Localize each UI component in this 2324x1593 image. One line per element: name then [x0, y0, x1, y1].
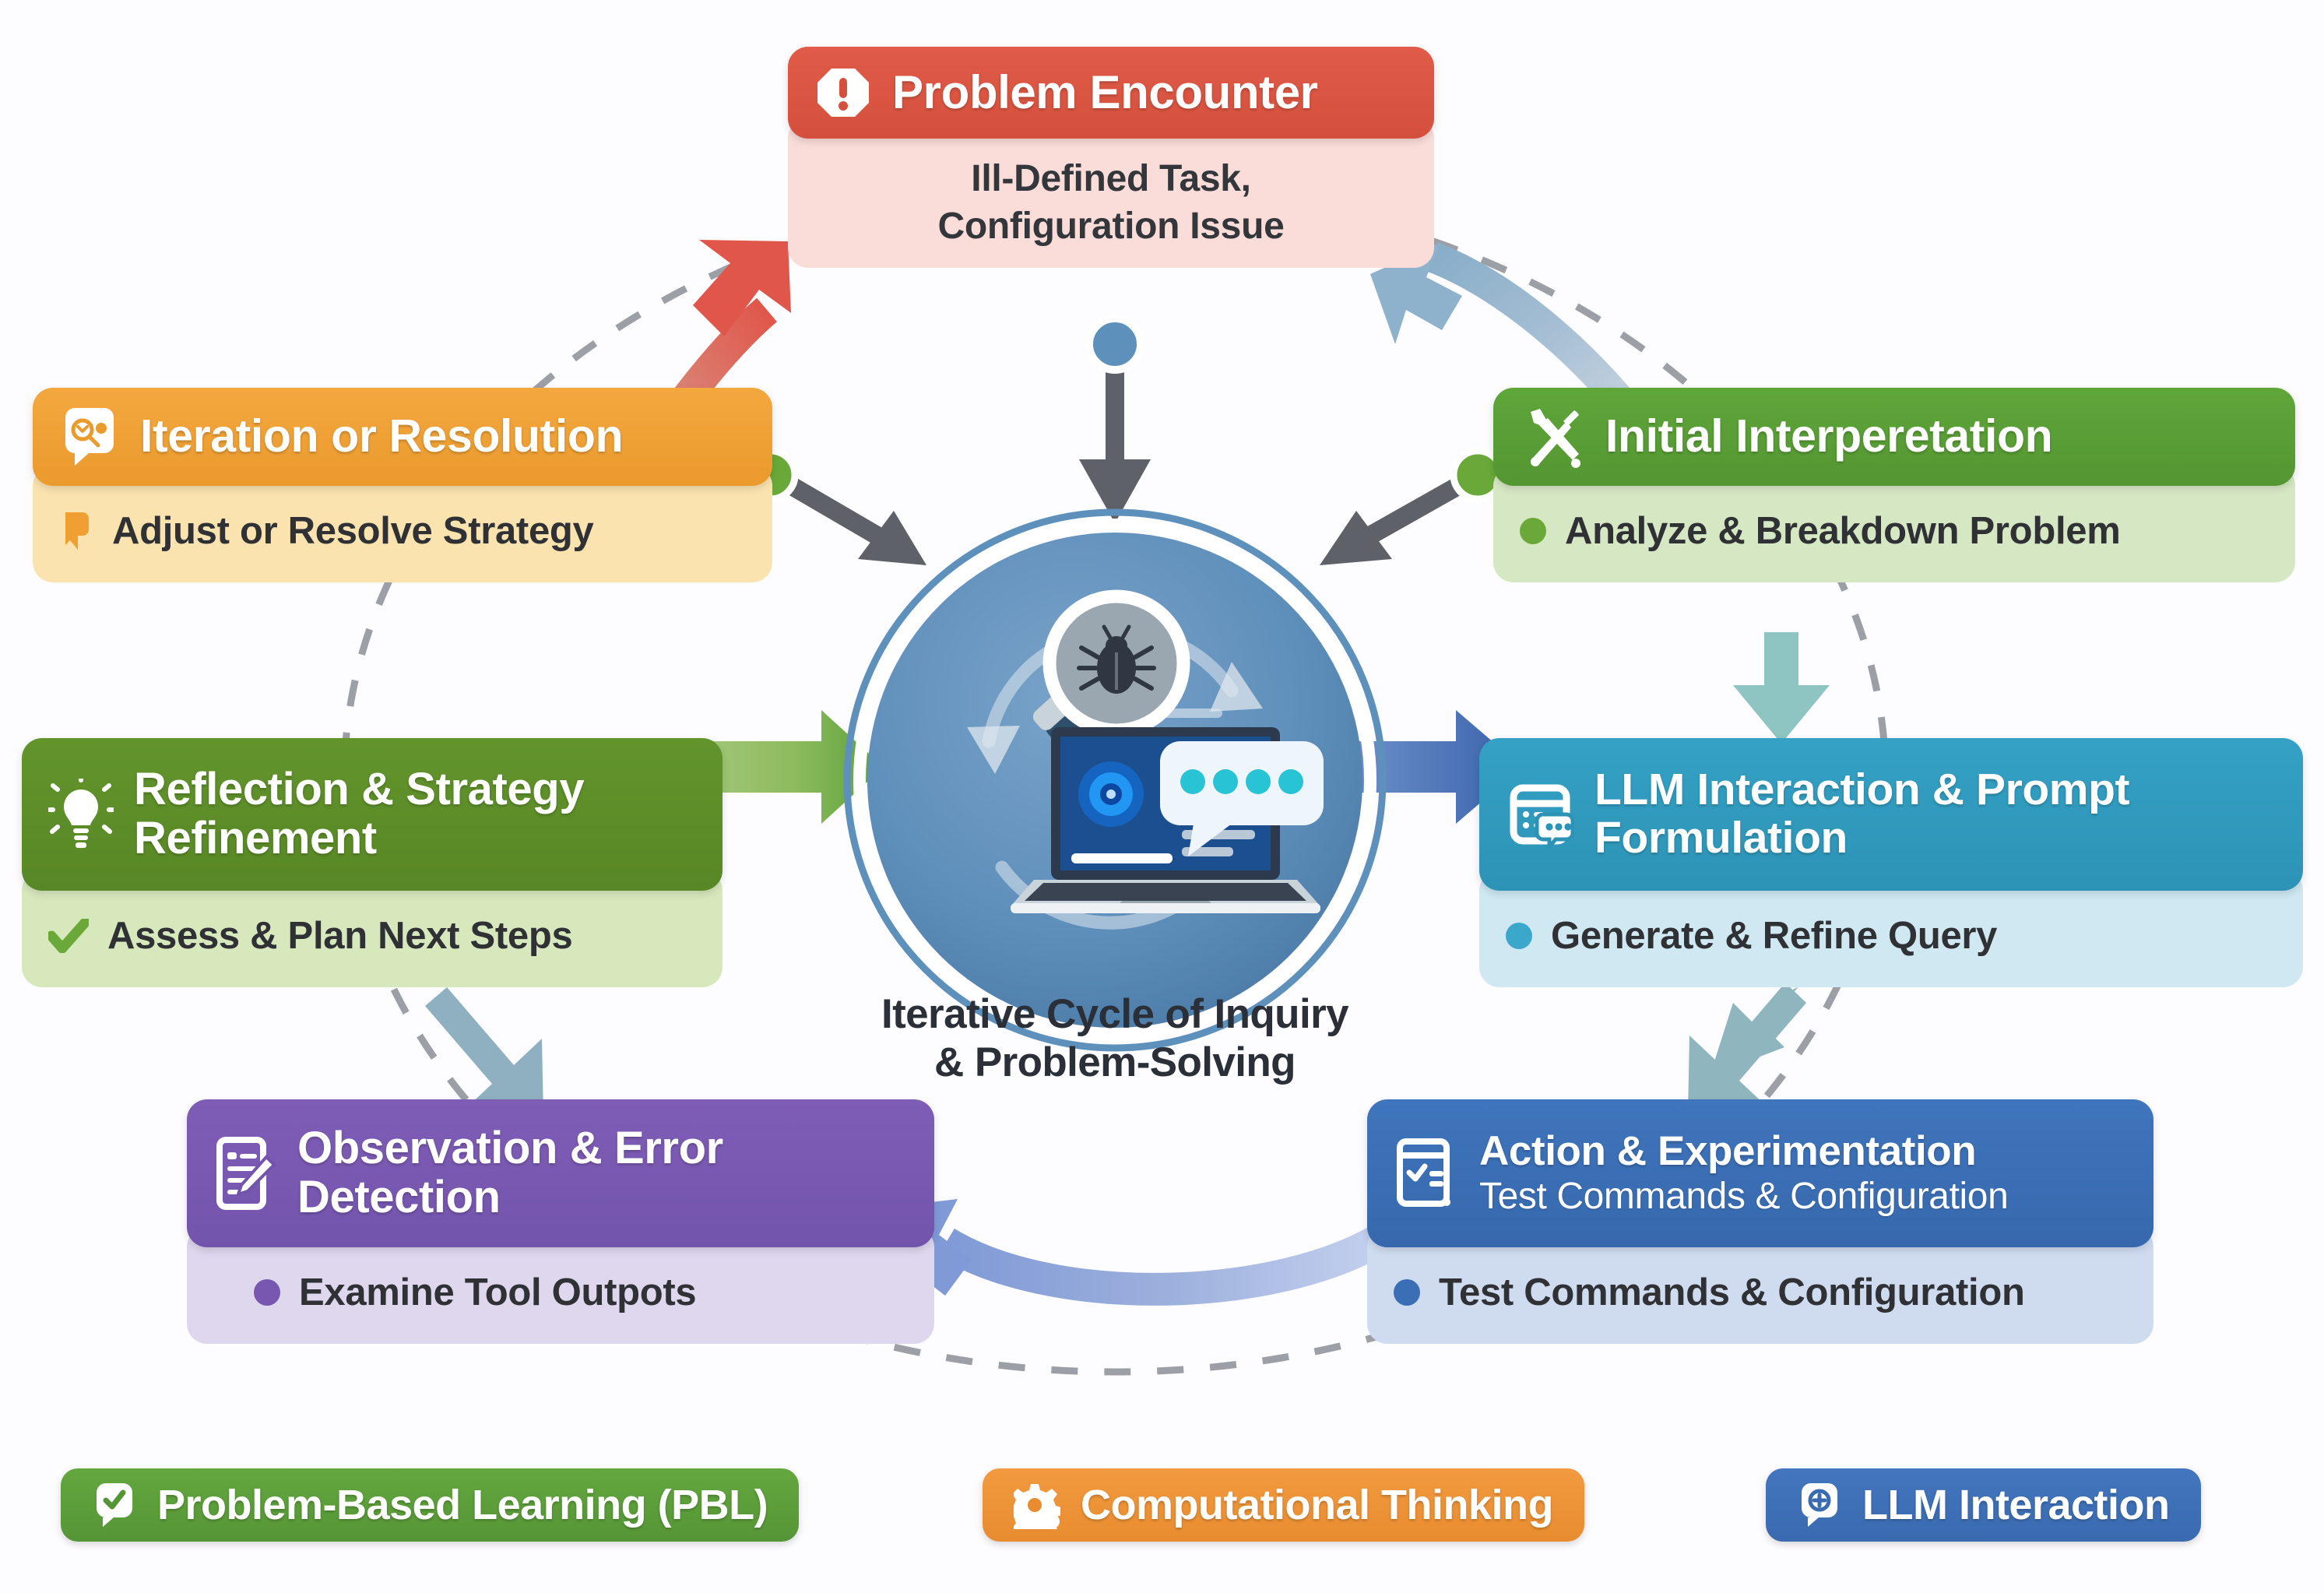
- reflection-body-text: Assess & Plan Next Steps: [107, 914, 572, 958]
- node-initial-interpretation[interactable]: Initial Interperetation Analyze & Breakd…: [1493, 388, 2295, 582]
- node-problem-encounter[interactable]: Problem Encounter Ill-Defined Task, Conf…: [788, 47, 1434, 268]
- action-subtitle: Test Commands & Configuration: [1479, 1176, 2008, 1218]
- problem-encounter-title: Problem Encounter: [892, 68, 1318, 118]
- check-icon: [48, 919, 89, 953]
- llm-title: LLM Interaction & Prompt Formulation: [1594, 766, 2129, 862]
- observation-header[interactable]: Observation & Error Detection: [187, 1099, 934, 1247]
- node-reflection-strategy-refinement[interactable]: Reflection & Strategy Refinement Assess …: [22, 738, 723, 987]
- llm-title-line2: Formulation: [1594, 814, 2129, 863]
- arrow-llm-to-action: [1688, 983, 1806, 1113]
- checklist-terminal-icon: [1394, 1137, 1459, 1210]
- top-cycle-dot: [1089, 318, 1141, 370]
- bookmark-icon: [59, 509, 93, 553]
- action-header[interactable]: Action & Experimentation Test Commands &…: [1367, 1099, 2153, 1247]
- legend-item-pbl[interactable]: Problem-Based Learning (PBL): [61, 1468, 799, 1542]
- observation-body-text: Examine Tool Outpots: [299, 1271, 696, 1314]
- reflection-header[interactable]: Reflection & Strategy Refinement: [22, 738, 723, 891]
- problem-encounter-header[interactable]: Problem Encounter: [788, 47, 1434, 139]
- window-chat-bubble-icon: [1506, 780, 1574, 849]
- observation-title-line1: Observation & Error: [297, 1124, 723, 1173]
- action-title-line1: Action & Experimentation: [1479, 1129, 2008, 1173]
- initial-interpretation-header[interactable]: Initial Interperetation: [1493, 388, 2295, 486]
- node-observation-error-detection[interactable]: Observation & Error Detection Examine To…: [187, 1099, 934, 1344]
- node-iteration-or-resolution[interactable]: Iteration or Resolution Adjust or Resolv…: [33, 388, 772, 582]
- diagram-canvas: Iterative Cycle of Inquiry & Problem-Sol…: [0, 0, 2324, 1593]
- arrow-top-into-circle: [1079, 318, 1151, 523]
- observation-title: Observation & Error Detection: [297, 1124, 723, 1222]
- bullet-dot: [1520, 518, 1546, 544]
- bullet-dot: [1506, 923, 1532, 949]
- center-caption-line1: Iterative Cycle of Inquiry: [819, 990, 1411, 1039]
- legend-item-computational-thinking[interactable]: Computational Thinking: [983, 1468, 1584, 1542]
- check-bubble-icon: [92, 1482, 137, 1528]
- legend-label-pbl: Problem-Based Learning (PBL): [157, 1481, 768, 1529]
- reflection-title-line1: Reflection & Strategy: [134, 765, 584, 814]
- iteration-title: Iteration or Resolution: [140, 412, 623, 462]
- problem-encounter-body-line2: Configuration Issue: [938, 205, 1285, 248]
- node-action-experimentation[interactable]: Action & Experimentation Test Commands &…: [1367, 1099, 2153, 1344]
- bullet-dot: [254, 1279, 280, 1306]
- exclamation-octagon-icon: [814, 64, 872, 121]
- llm-body-text: Generate & Refine Query: [1551, 914, 1997, 958]
- document-pencil-icon: [213, 1137, 277, 1210]
- tools-wrench-screwdriver-icon: [1520, 404, 1585, 469]
- arrow-action-to-observation: [878, 1199, 1394, 1306]
- legend-label-llm-interaction: LLM Interaction: [1862, 1481, 2170, 1529]
- problem-encounter-body: Ill-Defined Task, Configuration Issue: [788, 118, 1434, 268]
- iteration-body-text: Adjust or Resolve Strategy: [112, 509, 593, 553]
- arrow-reflection-to-observation: [425, 987, 543, 1117]
- node-llm-interaction-prompt[interactable]: LLM Interaction & Prompt Formulation Gen…: [1479, 738, 2303, 987]
- action-body-text: Test Commands & Configuration: [1439, 1271, 2025, 1314]
- llm-header[interactable]: LLM Interaction & Prompt Formulation: [1479, 738, 2303, 891]
- center-illustration: [842, 508, 1387, 1053]
- legend-item-llm-interaction[interactable]: LLM Interaction: [1766, 1468, 2201, 1542]
- legend-label-computational-thinking: Computational Thinking: [1081, 1481, 1553, 1529]
- problem-encounter-body-line1: Ill-Defined Task,: [971, 157, 1250, 200]
- iteration-header[interactable]: Iteration or Resolution: [33, 388, 772, 486]
- center-caption-line2: & Problem-Solving: [819, 1039, 1411, 1087]
- gear-icon: [1014, 1481, 1060, 1529]
- bullet-dot: [1394, 1279, 1420, 1306]
- laptop-magnifier-bug-chat-illustration: [842, 508, 1387, 1053]
- initial-interpretation-title: Initial Interperetation: [1605, 412, 2052, 462]
- arrow-interpretation-to-llm: [1733, 632, 1830, 744]
- reflection-title-line2: Refinement: [134, 814, 584, 863]
- action-title: Action & Experimentation Test Commands &…: [1479, 1129, 2008, 1218]
- observation-title-line2: Detection: [297, 1173, 723, 1222]
- initial-interpretation-body-text: Analyze & Breakdown Problem: [1565, 509, 2120, 553]
- llm-title-line1: LLM Interaction & Prompt: [1594, 766, 2129, 814]
- reflection-title: Reflection & Strategy Refinement: [134, 765, 584, 863]
- center-caption: Iterative Cycle of Inquiry & Problem-Sol…: [819, 990, 1411, 1087]
- lightbulb-icon: [48, 779, 114, 850]
- plus-bubble-icon: [1797, 1482, 1842, 1528]
- chat-robot-icon: [59, 406, 120, 467]
